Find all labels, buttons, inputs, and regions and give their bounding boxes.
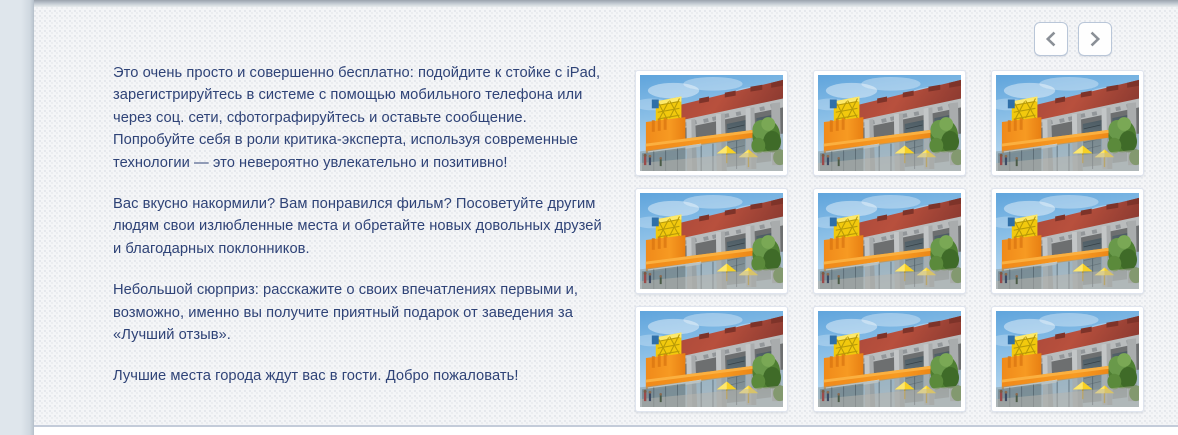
building-photo — [996, 193, 1139, 289]
page-root: Это очень просто и совершенно бесплатно:… — [0, 0, 1178, 435]
gallery-thumbnail[interactable] — [635, 70, 788, 176]
photo-gallery-grid — [635, 70, 1144, 412]
gallery-thumbnail[interactable] — [813, 188, 966, 294]
building-photo — [818, 75, 961, 171]
gallery-thumbnail[interactable] — [813, 70, 966, 176]
description-text: Это очень просто и совершенно бесплатно:… — [113, 62, 610, 388]
gallery-thumbnail[interactable] — [635, 306, 788, 412]
paragraph-2: Вас вкусно накормили? Вам понравился фил… — [113, 193, 610, 260]
prev-button[interactable] — [1034, 22, 1068, 56]
gallery-thumbnail[interactable] — [991, 306, 1144, 412]
building-photo — [640, 311, 783, 407]
building-photo — [996, 311, 1139, 407]
paragraph-1: Это очень просто и совершенно бесплатно:… — [113, 62, 610, 174]
building-photo — [640, 75, 783, 171]
gallery-thumbnail[interactable] — [813, 306, 966, 412]
gallery-thumbnail[interactable] — [635, 188, 788, 294]
next-button[interactable] — [1078, 22, 1112, 56]
top-divider — [34, 0, 1178, 7]
building-photo — [640, 193, 783, 289]
gallery-thumbnail[interactable] — [991, 70, 1144, 176]
paragraph-4: Лучшие места города ждут вас в гости. До… — [113, 365, 610, 387]
chevron-right-icon — [1086, 30, 1104, 48]
building-photo — [818, 193, 961, 289]
paragraph-3: Небольшой сюрприз: расскажите о своих вп… — [113, 279, 610, 346]
gallery-pager — [1034, 22, 1112, 56]
gallery-thumbnail[interactable] — [991, 188, 1144, 294]
building-photo — [996, 75, 1139, 171]
page-gutter — [0, 0, 34, 435]
chevron-left-icon — [1042, 30, 1060, 48]
building-photo — [818, 311, 961, 407]
page-footer-space — [34, 427, 1178, 435]
